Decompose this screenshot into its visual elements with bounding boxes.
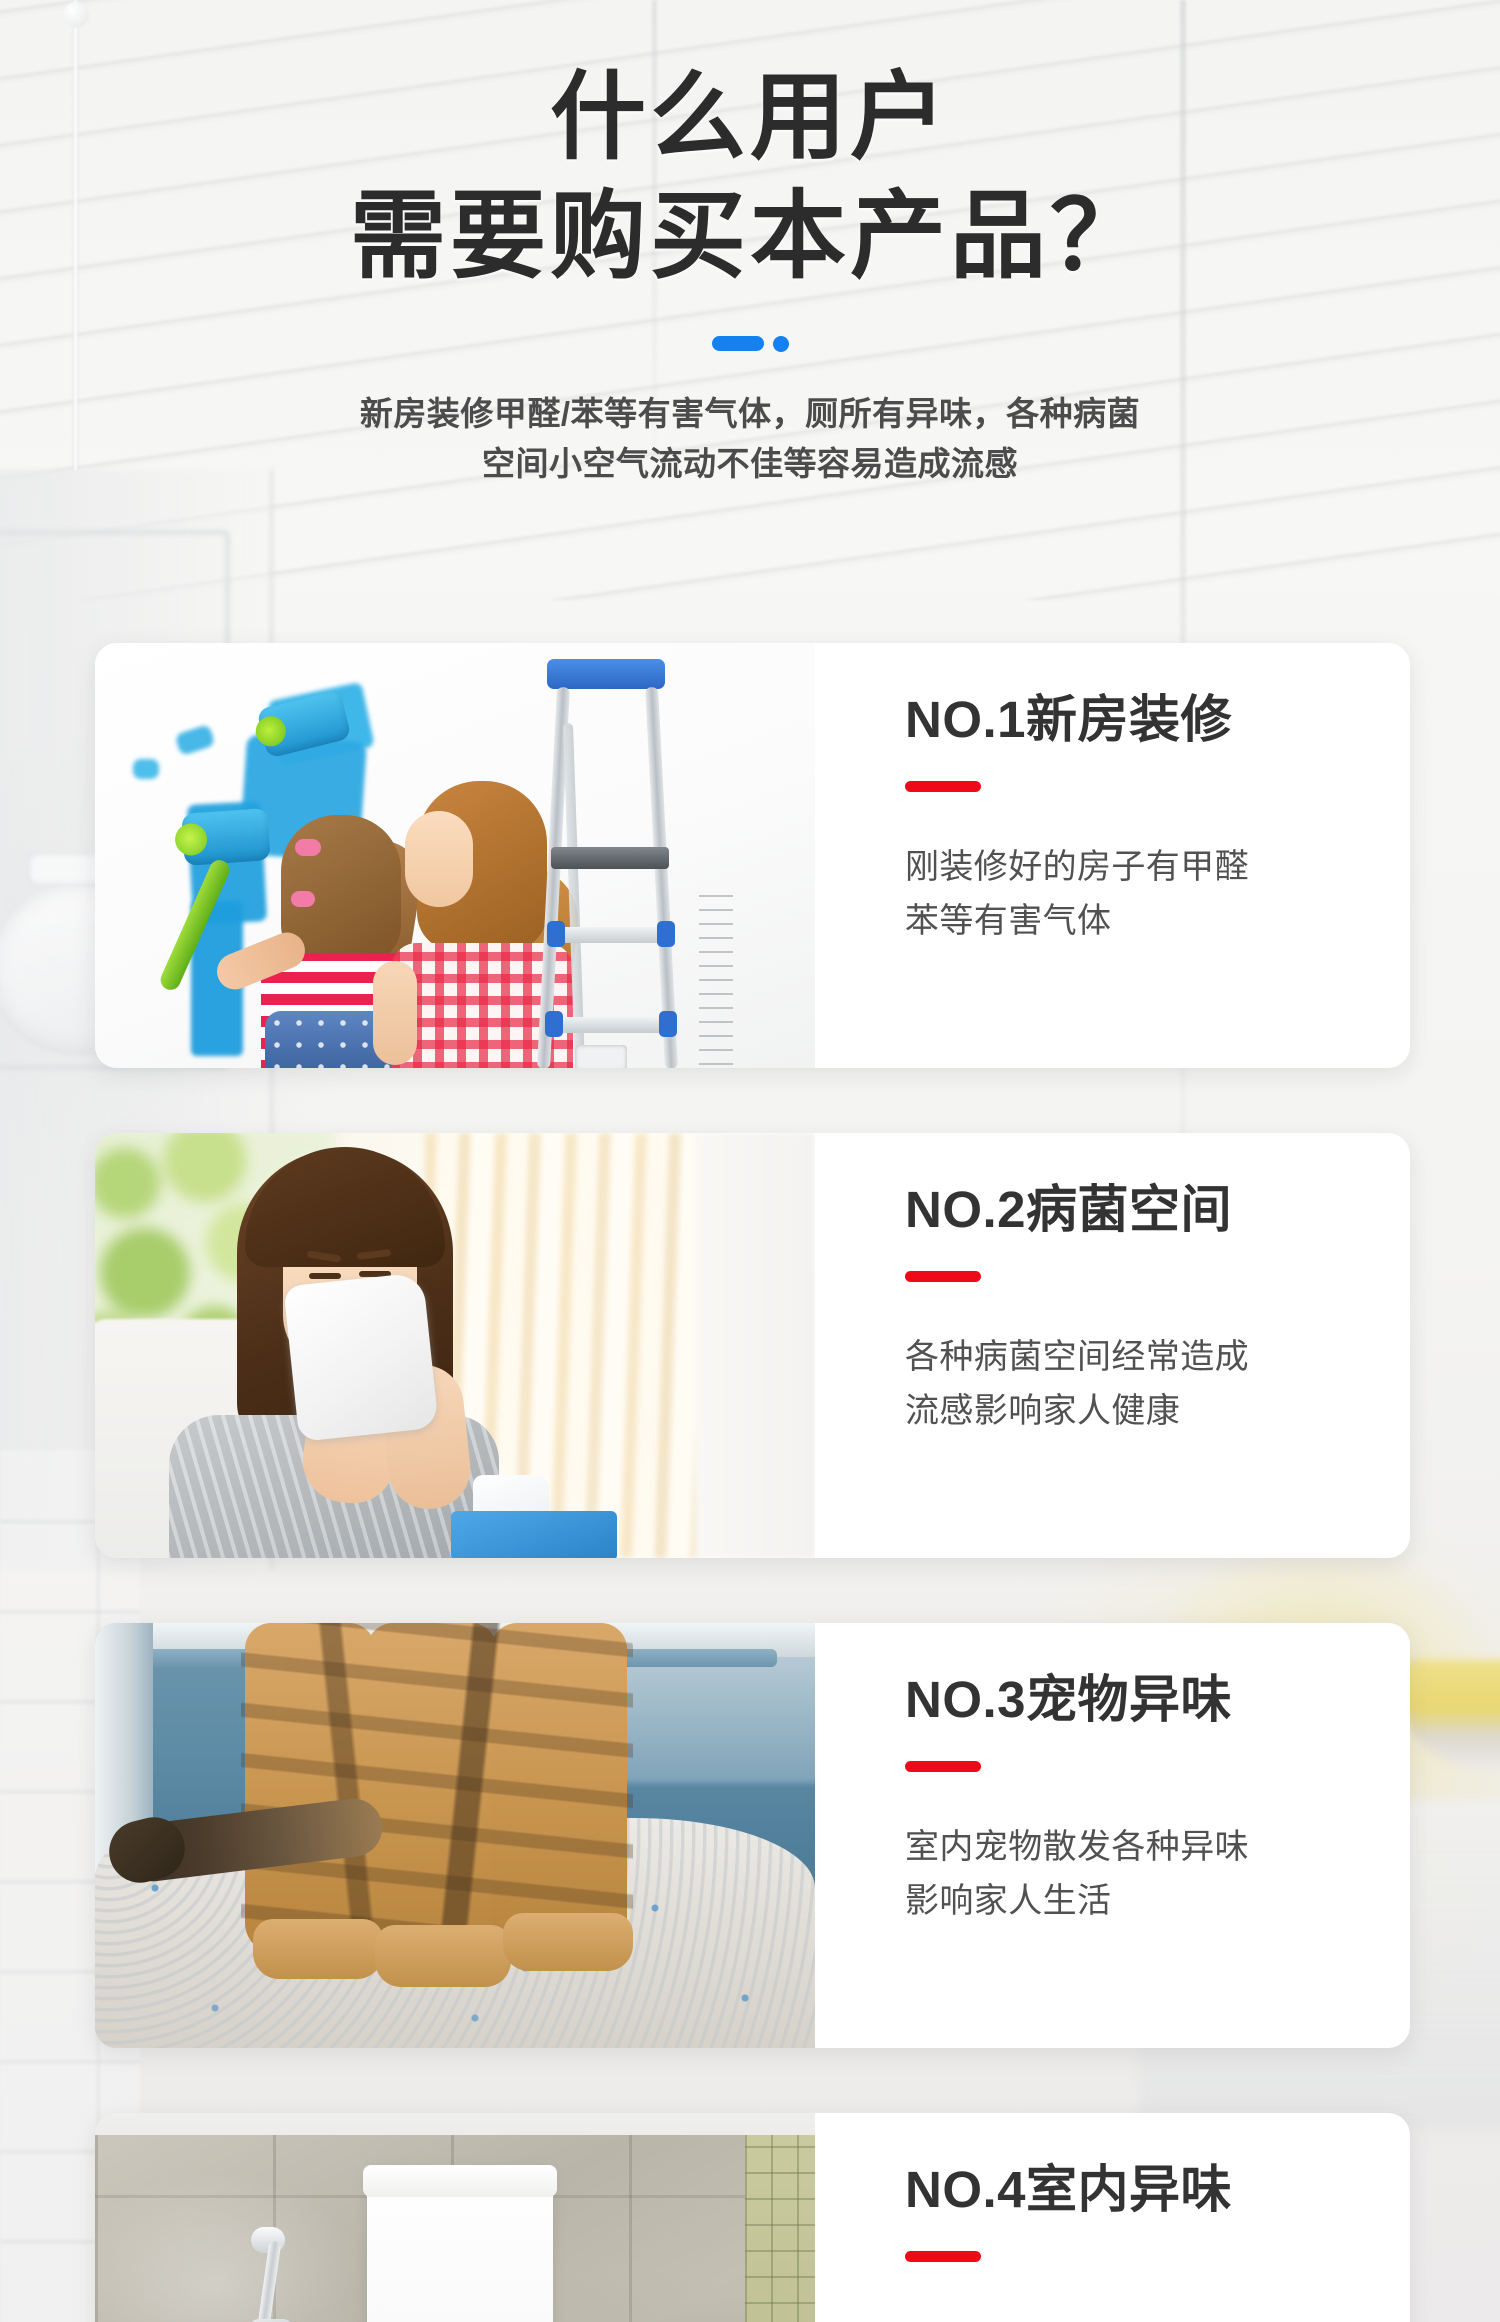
card-4-image-bathroom-toilet [95, 2113, 815, 2322]
divider-bar-icon [712, 336, 764, 351]
card-3-desc-line-1: 室内宠物散发各种异味 [905, 1820, 1410, 1874]
card-1-body: NO.1新房装修 刚装修好的房子有甲醛 苯等有害气体 [815, 643, 1410, 1068]
card-1-red-rule [905, 781, 981, 792]
reason-card-1[interactable]: NO.1新房装修 刚装修好的房子有甲醛 苯等有害气体 [95, 643, 1410, 1068]
promo-page: 什么用户 需要购买本产品？ 新房装修甲醛/苯等有害气体，厕所有异味，各种病菌 空… [0, 0, 1500, 2322]
card-2-image-sneezing-woman [95, 1133, 815, 1558]
page-subtitle-line-2: 空间小空气流动不佳等容易造成流感 [0, 439, 1500, 489]
reason-card-4[interactable]: NO.4室内异味 [95, 2113, 1410, 2322]
page-header: 什么用户 需要购买本产品？ 新房装修甲醛/苯等有害气体，厕所有异味，各种病菌 空… [0, 0, 1500, 489]
card-3-red-rule [905, 1761, 981, 1772]
card-3-title: NO.3宠物异味 [905, 1673, 1410, 1727]
card-4-red-rule [905, 2251, 981, 2262]
title-divider [0, 335, 1500, 353]
card-4-body: NO.4室内异味 [815, 2113, 1410, 2322]
tissue-box-icon [451, 1511, 617, 1558]
tissue-icon [283, 1272, 439, 1442]
divider-dot-icon [773, 336, 789, 352]
card-1-description: 刚装修好的房子有甲醛 苯等有害气体 [905, 840, 1410, 949]
page-subtitle-line-1: 新房装修甲醛/苯等有害气体，厕所有异味，各种病菌 [0, 389, 1500, 439]
page-title-line-1: 什么用户 [0, 62, 1500, 173]
card-1-image-new-home-painting [95, 643, 815, 1068]
card-4-title: NO.4室内异味 [905, 2163, 1410, 2217]
green-mosaic-tile-icon [745, 2135, 815, 2322]
card-3-body: NO.3宠物异味 室内宠物散发各种异味 影响家人生活 [815, 1623, 1410, 2048]
card-2-description: 各种病菌空间经常造成 流感影响家人健康 [905, 1330, 1410, 1439]
card-2-desc-line-1: 各种病菌空间经常造成 [905, 1330, 1410, 1384]
card-3-image-cat-litter-box [95, 1623, 815, 2048]
card-2-red-rule [905, 1271, 981, 1282]
background-fruit-bowl-lemons [1395, 1660, 1500, 1770]
reason-card-2[interactable]: NO.2病菌空间 各种病菌空间经常造成 流感影响家人健康 [95, 1133, 1410, 1558]
page-subtitle: 新房装修甲醛/苯等有害气体，厕所有异味，各种病菌 空间小空气流动不佳等容易造成流… [0, 389, 1500, 489]
page-title-line-2: 需要购买本产品？ [0, 181, 1500, 292]
card-1-title: NO.1新房装修 [905, 693, 1410, 747]
card-3-desc-line-2: 影响家人生活 [905, 1874, 1410, 1928]
ladder-top-tray-icon [547, 659, 665, 689]
card-3-description: 室内宠物散发各种异味 影响家人生活 [905, 1820, 1410, 1929]
reason-card-3[interactable]: NO.3宠物异味 室内宠物散发各种异味 影响家人生活 [95, 1623, 1410, 2048]
card-2-desc-line-2: 流感影响家人健康 [905, 1384, 1410, 1438]
card-2-body: NO.2病菌空间 各种病菌空间经常造成 流感影响家人健康 [815, 1133, 1410, 1558]
card-1-desc-line-2: 苯等有害气体 [905, 894, 1410, 948]
card-1-desc-line-1: 刚装修好的房子有甲醛 [905, 840, 1410, 894]
card-2-title: NO.2病菌空间 [905, 1183, 1410, 1237]
reason-card-list: NO.1新房装修 刚装修好的房子有甲醛 苯等有害气体 [95, 643, 1410, 2322]
paint-roller-lower-icon [181, 808, 270, 866]
